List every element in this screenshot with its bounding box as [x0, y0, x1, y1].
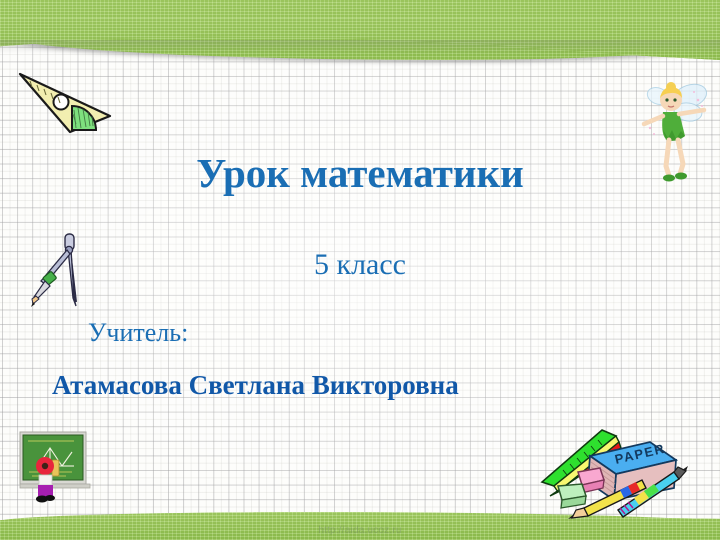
school-supplies-icon: PAPER — [524, 424, 700, 520]
slide-subtitle: 5 класс — [0, 248, 720, 282]
presentation-slide: PAPER Урок м — [0, 0, 720, 540]
chalkboard-teacher-icon — [16, 430, 102, 508]
teacher-label: Учитель: — [88, 318, 188, 348]
set-square-ruler-icon — [14, 66, 118, 138]
teacher-name: Атамасова Светлана Викторовна — [52, 370, 459, 401]
source-watermark: http://aida.ucoz.ru — [0, 525, 720, 536]
slide-title: Урок математики — [0, 152, 720, 195]
